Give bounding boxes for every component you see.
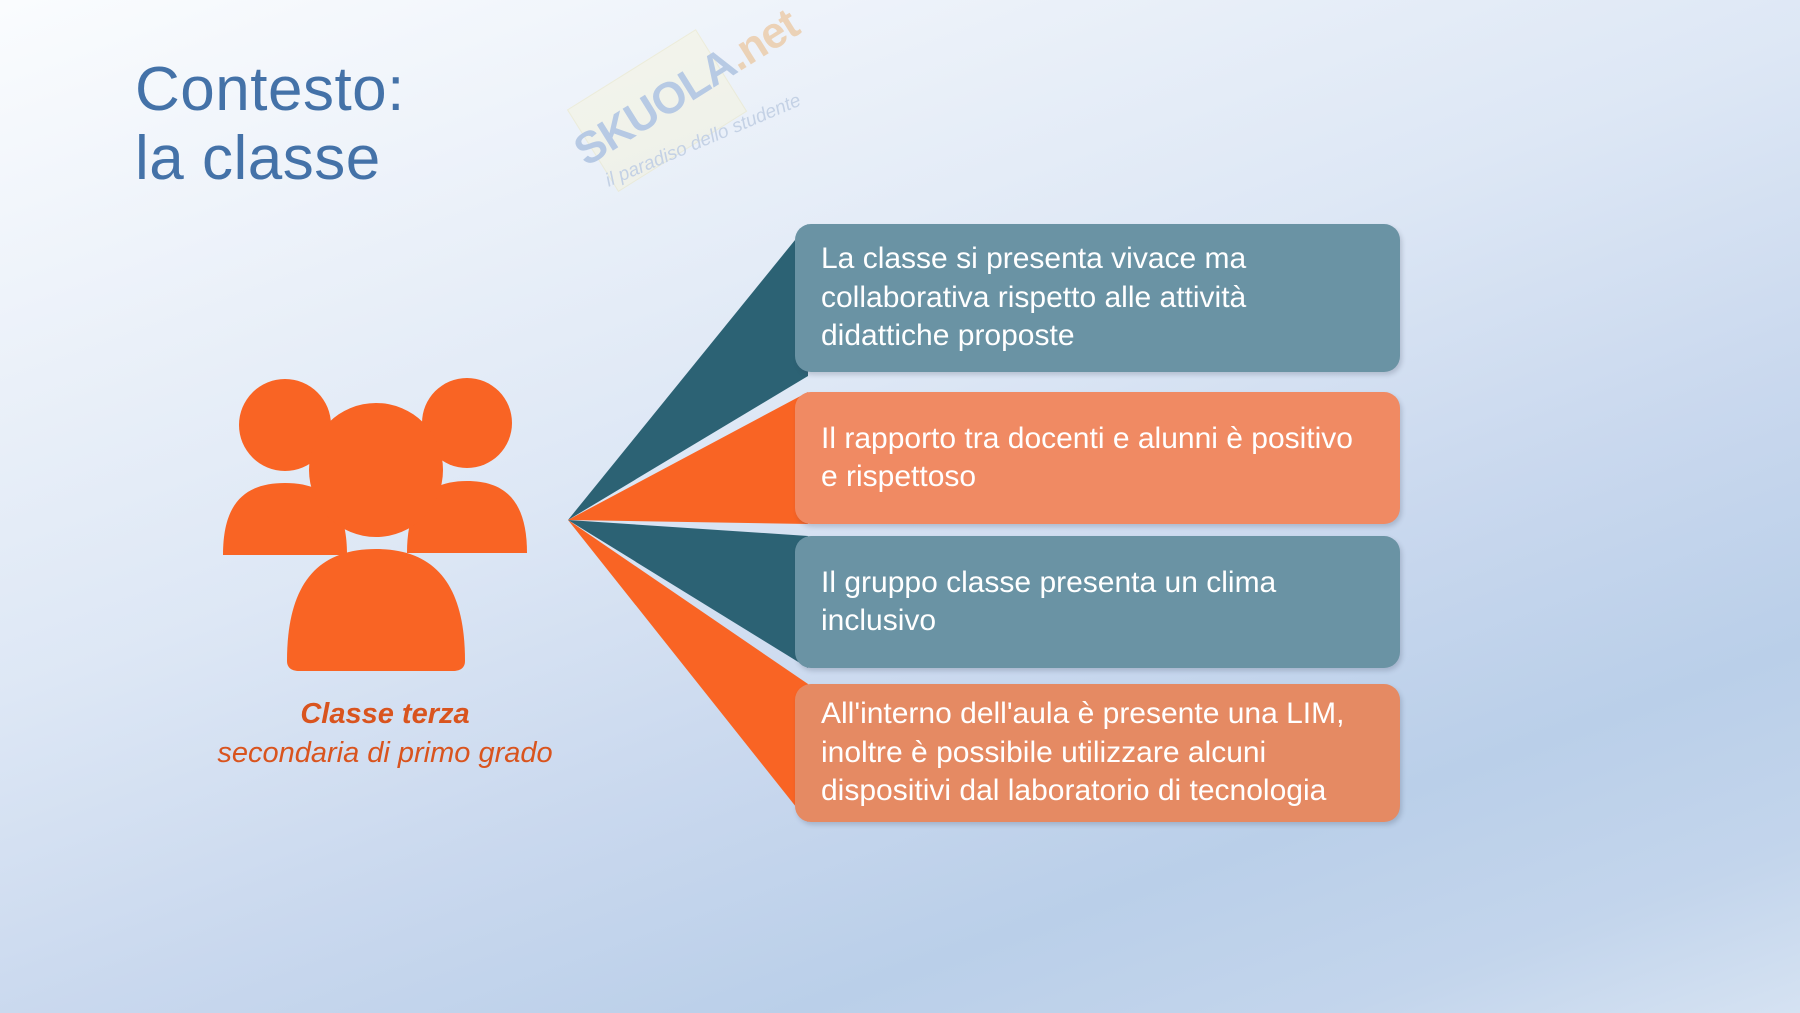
watermark-logo-suffix: .net: [718, 0, 807, 80]
caption-line-2: secondaria di primo grado: [150, 734, 620, 773]
statement-text-1: La classe si presenta vivace ma collabor…: [821, 240, 1374, 355]
statement-box-1[interactable]: La classe si presenta vivace ma collabor…: [795, 224, 1400, 372]
subject-caption: Classe terza secondaria di primo grado: [150, 695, 620, 773]
caption-line-1: Classe terza: [150, 695, 620, 734]
statement-text-4: All'interno dell'aula è presente una LIM…: [821, 695, 1374, 810]
watermark-badge: [567, 29, 747, 192]
watermark-tagline: il paradiso dello studente: [602, 90, 804, 192]
statement-text-3: Il gruppo classe presenta un clima inclu…: [821, 564, 1374, 641]
group-of-people-icon: [215, 365, 545, 675]
watermark-logo-text: SKUOLA: [566, 39, 744, 176]
page-title: Contesto: la classe: [135, 55, 405, 194]
slide-canvas: Contesto: la classe SKUOLA.net il paradi…: [0, 0, 1800, 1013]
statement-box-3[interactable]: Il gruppo classe presenta un clima inclu…: [795, 536, 1400, 668]
statement-box-2[interactable]: Il rapporto tra docenti e alunni è posit…: [795, 392, 1400, 524]
watermark-logo: SKUOLA.net: [566, 0, 808, 176]
statement-box-4[interactable]: All'interno dell'aula è presente una LIM…: [795, 684, 1400, 822]
statement-text-2: Il rapporto tra docenti e alunni è posit…: [821, 420, 1374, 497]
